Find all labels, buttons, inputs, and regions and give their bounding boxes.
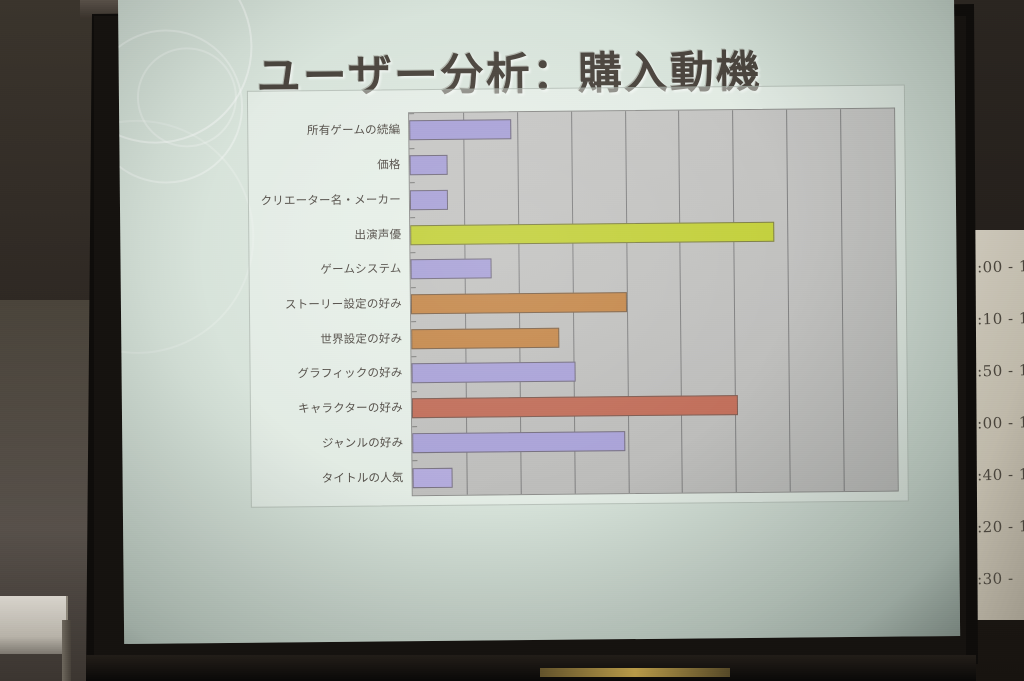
chart-axis-tick	[411, 356, 416, 357]
chart-axis-tick	[412, 426, 417, 427]
chart-category-label: 出演声優	[354, 226, 401, 242]
chart-axis-tick	[409, 113, 414, 114]
chart-axis-tick	[410, 217, 415, 218]
chart-gridline	[732, 110, 737, 492]
chart-category-label: ゲームシステム	[320, 261, 401, 278]
chart-category-label: ストーリー設定の好み	[285, 295, 402, 312]
chart-category-label: ジャンルの好み	[322, 434, 403, 451]
chart-category-label: クリエーター名・メーカー	[260, 191, 401, 208]
chart-bar	[413, 467, 454, 487]
chart-bar	[411, 259, 492, 280]
chart-category-label: 価格	[377, 156, 401, 172]
chart-axis-tick	[411, 287, 416, 288]
chart-object-frame: 所有ゲームの続編価格クリエーター名・メーカー出演声優ゲームシステムストーリー設定…	[247, 84, 909, 507]
chart-plot-area	[408, 108, 899, 497]
chart-axis-tick	[409, 148, 414, 149]
chart-gridline	[679, 111, 684, 493]
chart-bar	[412, 362, 577, 384]
decorative-ring-icon	[118, 119, 255, 355]
chart-category-label: 所有ゲームの続編	[307, 122, 400, 139]
chart-axis-tick	[412, 460, 417, 461]
chart-bar	[411, 292, 627, 314]
chart-category-label: 世界設定の好み	[320, 330, 402, 347]
chart-axis-tick	[410, 252, 415, 253]
chart-bar	[410, 155, 448, 175]
chart-bar	[410, 190, 448, 210]
chart-gridline	[894, 109, 899, 491]
presentation-slide: ユーザー分析：購入動機 所有ゲームの続編価格クリエーター名・メーカー出演声優ゲー…	[118, 0, 960, 644]
podium	[0, 596, 68, 654]
chart-gridline	[840, 109, 845, 491]
chart-axis-tick	[411, 322, 416, 323]
chart-category-label: グラフィックの好み	[297, 365, 402, 382]
decorative-ring-icon	[136, 47, 237, 148]
chart-axis-tick	[412, 391, 417, 392]
chart-category-label: タイトルの人気	[322, 469, 404, 486]
chart-axis-tick	[410, 183, 415, 184]
chart-gridline	[786, 110, 791, 492]
projector-screen-bottom-bar	[86, 655, 976, 681]
chart-bar	[409, 120, 512, 141]
decorative-ring-icon	[118, 0, 253, 145]
decorative-ring-icon	[118, 29, 244, 184]
chart-bar	[412, 395, 738, 418]
chart-bar	[410, 221, 774, 244]
podium-stand	[62, 620, 71, 681]
chart-bar	[411, 327, 559, 348]
chart-category-label: キャラクターの好み	[298, 399, 403, 416]
chart-bar	[412, 431, 625, 453]
projector-screen-logo-strip	[540, 668, 730, 677]
